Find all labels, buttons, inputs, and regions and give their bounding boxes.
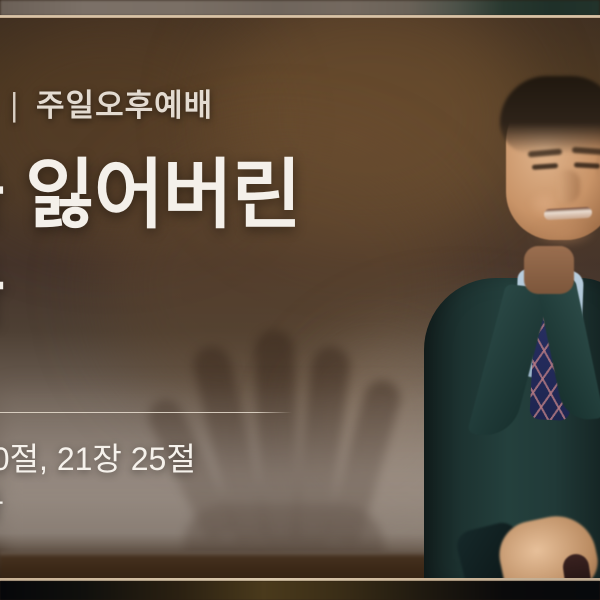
service-kicker: 회∣주일오후예배 [0, 80, 213, 125]
title-divider [0, 412, 292, 413]
kicker-separator: ∣ [7, 88, 24, 123]
title-line-1: 을 잃어버린 [0, 148, 301, 244]
service-name: 주일오후예배 [36, 88, 213, 123]
scripture-line-2: 사 [0, 482, 196, 528]
bottom-dark-band [0, 581, 600, 600]
top-blurred-band [0, 0, 600, 16]
sermon-title: 을 잃어버린 들 [0, 148, 301, 340]
scripture-line-1: 10절, 21장 25절 [0, 436, 196, 482]
text-overlay: 회∣주일오후예배 을 잃어버린 들 10절, 21장 25절 사 [0, 18, 600, 578]
scripture-reference: 10절, 21장 25절 사 [0, 436, 196, 528]
sermon-title-slide: 회∣주일오후예배 을 잃어버린 들 10절, 21장 25절 사 [0, 0, 600, 600]
title-line-2: 들 [0, 244, 301, 340]
